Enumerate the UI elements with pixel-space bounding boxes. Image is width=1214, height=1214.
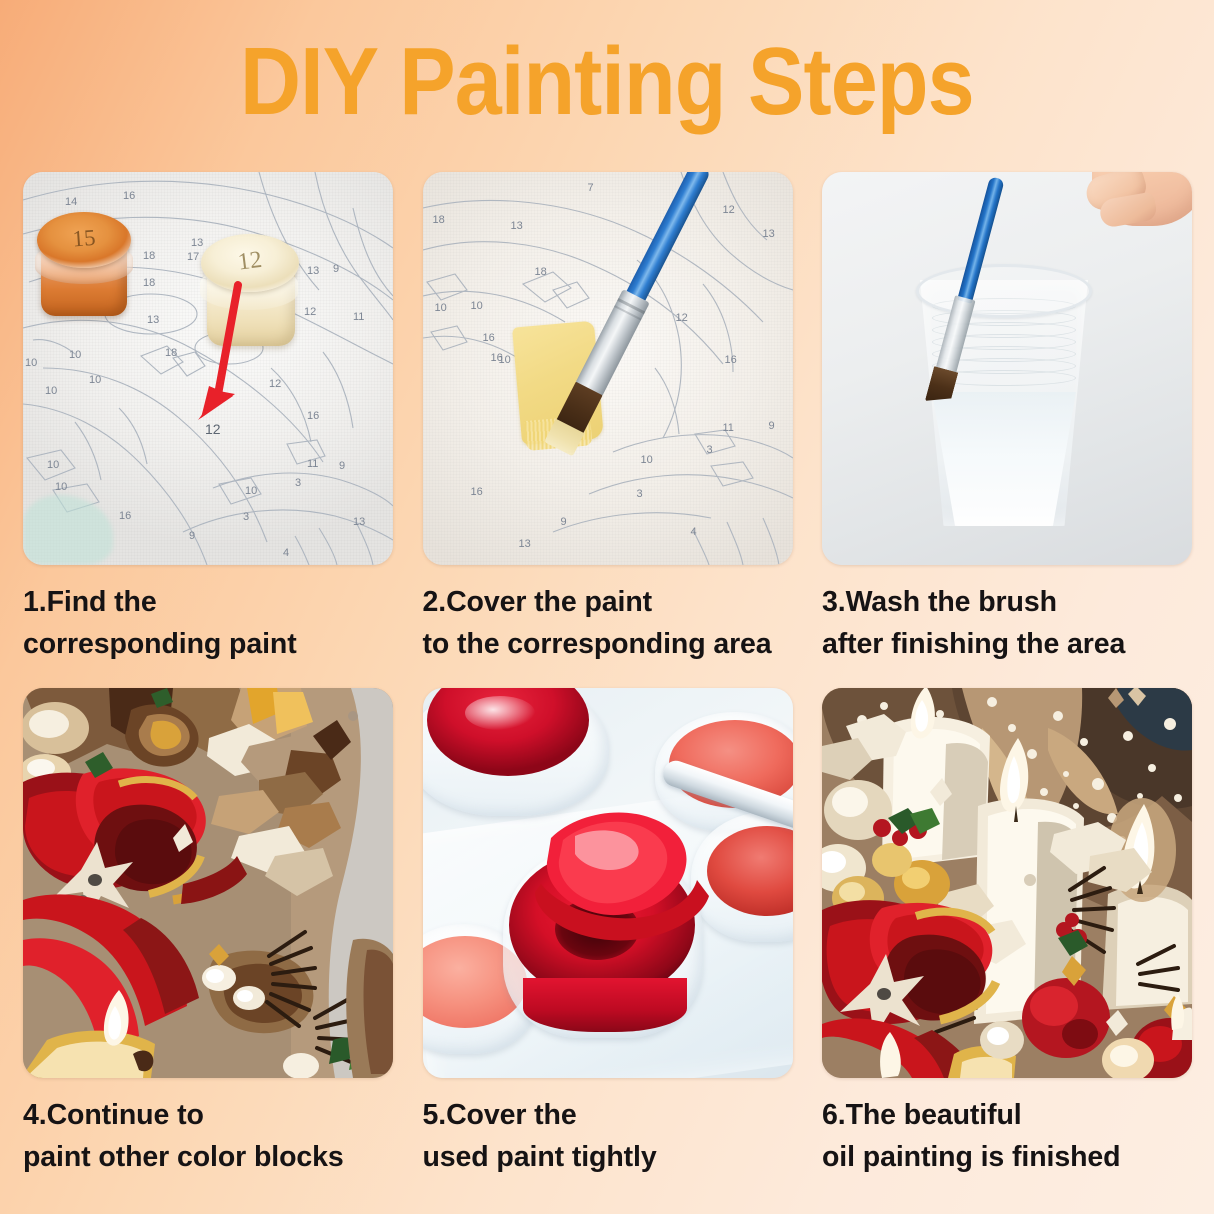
step-caption-1: 1.Find the corresponding paint [23,565,393,688]
steps-grid: 14 16 13 18 17 18 13 18 12 16 12 11 13 9… [23,172,1192,1192]
canvas-number: 3 [707,444,713,456]
step-caption-4: 4.Continue to paint other color blocks [23,1078,393,1195]
step-4-photo [23,688,393,1078]
step-image-5 [423,688,793,1078]
canvas-number: 9 [769,420,775,432]
step-caption-6: 6.The beautiful oil painting is finished [822,1078,1192,1195]
canvas-number: 13 [519,538,531,550]
canvas-number: 16 [725,354,737,366]
step-image-3 [822,172,1192,565]
canvas-number: 11 [723,422,734,434]
step-image-4 [23,688,393,1078]
canvas-number: 13 [511,220,523,232]
step-caption-5: 5.Cover the used paint tightly [423,1078,793,1195]
step-2-photo: 13 18 18 10 10 16 16 10 12 16 12 13 7 11… [423,172,793,565]
canvas-number: 4 [691,526,697,538]
canvas-number: 3 [637,488,643,500]
canvas-number: 18 [535,266,547,278]
step-image-1: 14 16 13 18 17 18 13 18 12 16 12 11 13 9… [23,172,393,565]
canvas-number: 18 [433,214,445,226]
step-image-6 [822,688,1192,1078]
canvas-number: 10 [499,354,511,366]
canvas-number: 12 [676,312,688,324]
finished-painting-art [822,688,1192,1078]
canvas-number: 12 [723,204,735,216]
step-5-photo [423,688,793,1078]
step-caption-2: 2.Cover the paint to the corresponding a… [423,565,793,688]
page-title: DIY Painting Steps [240,34,974,130]
red-arrow-icon [23,172,393,565]
canvas-number: 10 [641,454,653,466]
canvas-number: 13 [763,228,775,240]
canvas-number: 10 [435,302,447,314]
canvas-number: 10 [471,300,483,312]
canvas-number: 16 [483,332,495,344]
canvas-number: 9 [561,516,567,528]
step-6-photo [822,688,1192,1078]
canvas-number: 7 [588,182,594,194]
red-paint-blob [423,688,793,1078]
step-1-photo: 14 16 13 18 17 18 13 18 12 16 12 11 13 9… [23,172,393,565]
hand [1066,172,1192,274]
header: DIY Painting Steps [0,22,1214,142]
step-caption-3: 3.Wash the brush after finishing the are… [822,565,1192,688]
step-3-photo [822,172,1192,565]
step-image-2: 13 18 18 10 10 16 16 10 12 16 12 13 7 11… [423,172,793,565]
canvas-number-target: 12 [205,421,221,437]
partial-painting-art [23,688,393,1078]
canvas-number: 16 [471,486,483,498]
